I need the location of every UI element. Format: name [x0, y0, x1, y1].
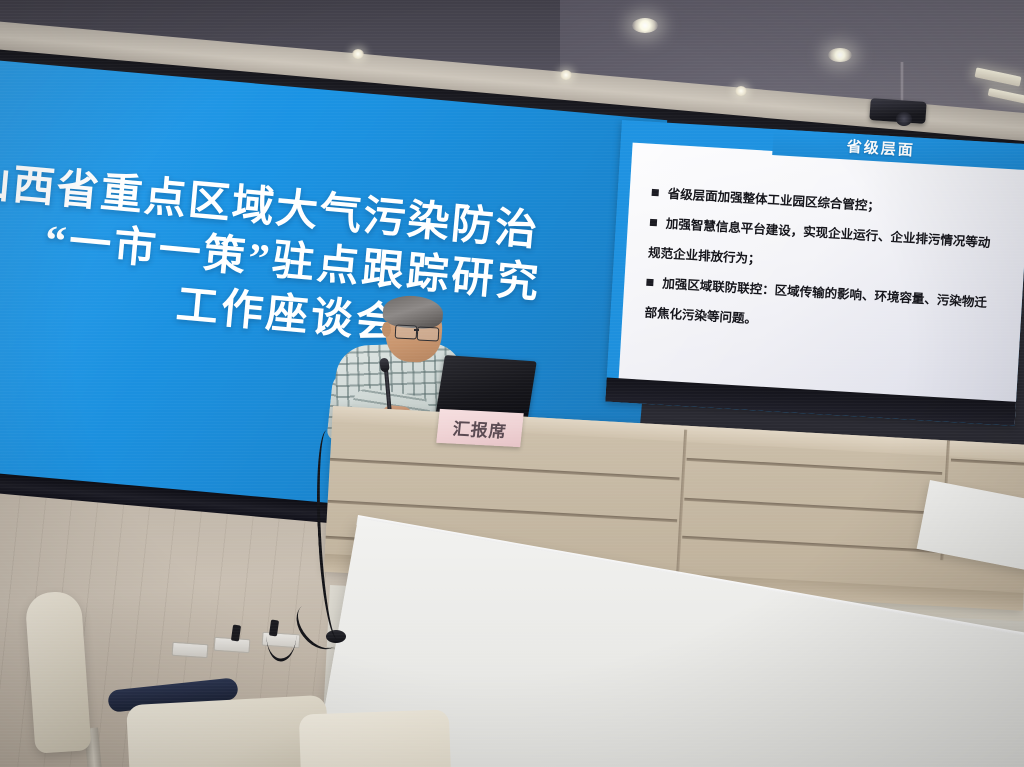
podium-panel-seam	[676, 430, 687, 580]
square-bullet-icon	[646, 279, 653, 286]
slide-title: 省级层面	[846, 135, 915, 160]
projector-support-pole	[900, 62, 904, 102]
conference-room-photo: 山西省重点区域大气污染防治 “一市一策”驻点跟踪研究 工作座谈会 省级层面 省级…	[0, 0, 1024, 767]
podium-panel-groove	[330, 458, 680, 481]
presenter-ear	[382, 322, 391, 337]
chair-seat	[299, 709, 451, 767]
podium-panel-groove	[686, 458, 942, 475]
chair-backrest	[24, 590, 91, 754]
floor-power-socket	[172, 642, 209, 658]
projection-screen: 省级层面 省级层面加强整体工业园区综合管控； 加强智慧信息平台建设，实现企业运行…	[605, 120, 1024, 426]
slide-bullet-list: 省级层面加强整体工业园区综合管控； 加强智慧信息平台建设，实现企业运行、企业排污…	[644, 178, 1024, 351]
podium-panel-groove	[682, 536, 938, 553]
ceiling-downlight	[632, 18, 658, 33]
ceiling-projector-lens-icon	[896, 112, 912, 126]
square-bullet-icon	[650, 219, 657, 226]
slide-bullet-text: 规范企业排放行为；	[648, 246, 761, 267]
eyeglasses-bridge-icon	[414, 329, 419, 331]
ceiling-downlight	[828, 48, 852, 62]
ceiling-downlight	[352, 49, 364, 59]
podium-panel-groove	[684, 498, 940, 515]
eyeglasses-icon	[417, 326, 440, 341]
slide-bullet-text: 部焦化污染等问题。	[644, 306, 757, 327]
eyeglasses-icon	[395, 324, 418, 339]
nameplate: 汇报席	[436, 409, 523, 447]
microphone-head-icon	[379, 357, 390, 372]
slide-bullet-text: 省级层面加强整体工业园区综合管控；	[667, 187, 880, 214]
ceiling-downlight	[560, 70, 572, 80]
square-bullet-icon	[652, 189, 659, 196]
ceiling-downlight	[735, 86, 747, 96]
nameplate-text: 汇报席	[452, 414, 509, 442]
